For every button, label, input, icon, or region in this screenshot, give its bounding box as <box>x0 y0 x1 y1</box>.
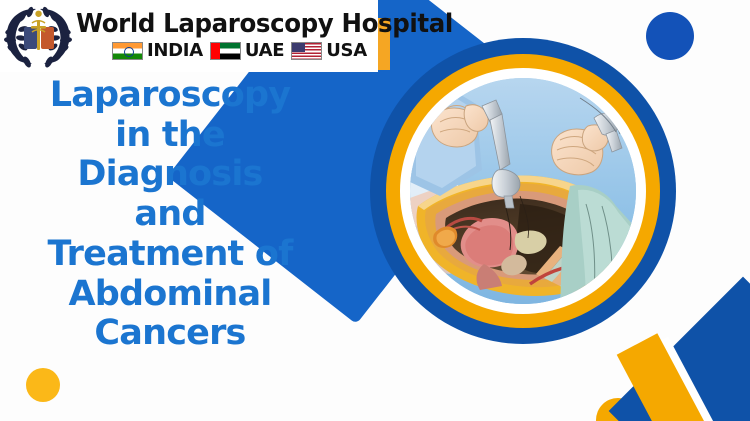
headline-line-7: Cancers <box>0 314 340 354</box>
logo-text-block: World Laparoscopy Hospital INDIA UAE USA <box>74 11 473 61</box>
country-label-usa: USA <box>326 40 367 61</box>
country-label-uae: UAE <box>245 40 284 61</box>
india-flag-icon <box>112 42 143 60</box>
laurel-wreath-caduceus-emblem-icon <box>2 3 74 69</box>
headline-line-1: Laparoscopy <box>0 76 340 116</box>
country-list: INDIA UAE USA <box>76 40 469 61</box>
headline-line-2: in the <box>0 116 340 156</box>
yellow-dot-bottom-left <box>26 368 60 402</box>
headline-line-6: Abdominal <box>0 275 340 315</box>
headline-line-3: Diagnosis <box>0 155 340 195</box>
hospital-name: World Laparoscopy Hospital <box>76 11 453 37</box>
headline-line-5: Treatment of <box>0 235 340 275</box>
logo-block: World Laparoscopy Hospital INDIA UAE USA <box>0 0 378 72</box>
usa-flag-icon <box>291 42 322 60</box>
page-title: Laparoscopy in the Diagnosis and Treatme… <box>0 76 340 354</box>
headline-line-4: and <box>0 195 340 235</box>
banner-root: World Laparoscopy Hospital INDIA UAE USA… <box>0 0 750 421</box>
illustration-circle <box>370 38 676 344</box>
country-label-india: INDIA <box>147 40 203 61</box>
uae-flag-icon <box>210 42 241 60</box>
laparoscopic-abdominal-surgery-illustration <box>410 78 636 304</box>
